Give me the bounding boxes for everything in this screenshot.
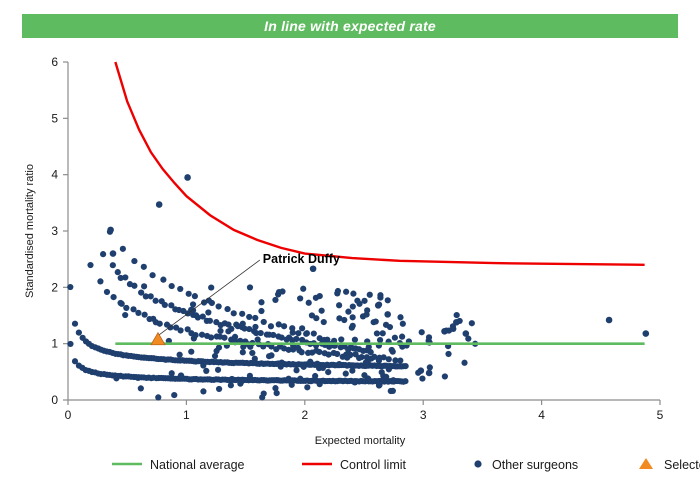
surgeon-point[interactable] [397, 357, 403, 363]
surgeon-point[interactable] [110, 262, 116, 268]
surgeon-point[interactable] [377, 337, 383, 343]
surgeon-point[interactable] [252, 356, 258, 362]
surgeon-point[interactable] [317, 381, 323, 387]
x-tick-label: 0 [65, 408, 72, 422]
surgeon-point[interactable] [312, 373, 318, 379]
surgeon-point[interactable] [215, 367, 221, 373]
surgeon-point[interactable] [276, 360, 282, 366]
surgeon-point[interactable] [67, 341, 73, 347]
surgeon-point[interactable] [276, 289, 282, 295]
surgeon-point[interactable] [397, 314, 403, 320]
surgeon-point[interactable] [118, 275, 124, 281]
surgeon-point[interactable] [293, 367, 299, 373]
legend-circle-swatch [474, 460, 481, 467]
surgeon-point[interactable] [352, 337, 358, 343]
surgeon-point[interactable] [295, 330, 301, 336]
surgeon-point[interactable] [67, 284, 73, 290]
surgeon-point[interactable] [221, 335, 227, 341]
selected-surgeon-marker[interactable] [151, 333, 165, 345]
funnel-chart-svg: 0123456 012345 Expected mortality Standa… [0, 40, 700, 500]
surgeon-point[interactable] [239, 311, 245, 317]
surgeon-point[interactable] [177, 286, 183, 292]
surgeon-point[interactable] [376, 381, 383, 388]
surgeon-point[interactable] [200, 388, 206, 394]
surgeon-point[interactable] [266, 353, 272, 359]
surgeon-point[interactable] [375, 302, 382, 309]
surgeon-point[interactable] [249, 350, 255, 356]
surgeon-point[interactable] [441, 328, 448, 335]
surgeon-point[interactable] [258, 330, 264, 336]
surgeon-point[interactable] [153, 298, 159, 304]
x-tick-label: 4 [538, 408, 545, 422]
surgeon-point[interactable] [442, 373, 448, 379]
surgeon-point[interactable] [293, 336, 299, 342]
surgeon-point[interactable] [321, 319, 327, 325]
surgeon-point[interactable] [316, 349, 322, 355]
x-axis-ticks: 012345 [65, 400, 664, 422]
surgeon-point[interactable] [297, 376, 303, 382]
surgeon-point[interactable] [203, 368, 209, 374]
surgeon-point[interactable] [113, 375, 119, 381]
funnel-plot-page: In line with expected rate 0123456 01234… [0, 0, 700, 500]
surgeon-point[interactable] [334, 351, 340, 357]
surgeon-point[interactable] [193, 312, 199, 318]
x-axis-title: Expected mortality [315, 435, 406, 447]
surgeon-point[interactable] [169, 370, 175, 376]
surgeon-point[interactable] [379, 369, 385, 375]
surgeon-point[interactable] [100, 251, 106, 257]
surgeon-point[interactable] [383, 322, 389, 328]
surgeon-point[interactable] [300, 286, 306, 292]
surgeon-point[interactable] [320, 365, 326, 371]
surgeon-point[interactable] [373, 318, 379, 324]
surgeon-point[interactable] [177, 327, 183, 333]
y-tick-label: 1 [51, 337, 58, 351]
surgeon-point[interactable] [162, 302, 168, 308]
surgeon-point[interactable] [184, 174, 191, 181]
surgeon-point[interactable] [207, 318, 213, 324]
surgeon-point[interactable] [246, 314, 252, 320]
surgeon-point[interactable] [232, 334, 238, 340]
surgeon-point[interactable] [138, 385, 144, 391]
surgeon-point[interactable] [142, 312, 148, 318]
surgeon-point[interactable] [400, 321, 406, 327]
surgeon-point[interactable] [237, 381, 243, 387]
surgeon-point[interactable] [376, 355, 382, 361]
surgeon-point[interactable] [309, 312, 315, 318]
surgeon-point[interactable] [289, 382, 295, 388]
y-tick-label: 0 [51, 393, 58, 407]
legend-item-label: National average [150, 458, 245, 472]
surgeon-point[interactable] [290, 330, 296, 336]
surgeon-point[interactable] [389, 347, 395, 353]
status-banner-label: In line with expected rate [264, 18, 436, 34]
surgeon-point[interactable] [258, 308, 264, 314]
legend-item-label: Control limit [340, 458, 407, 472]
surgeon-point[interactable] [258, 299, 264, 305]
surgeon-point[interactable] [123, 305, 129, 311]
surgeon-point[interactable] [317, 293, 323, 299]
surgeon-point[interactable] [120, 246, 126, 252]
surgeon-point[interactable] [131, 283, 137, 289]
x-tick-label: 1 [183, 408, 190, 422]
surgeon-point[interactable] [141, 355, 147, 361]
surgeon-point[interactable] [252, 315, 258, 321]
surgeon-point[interactable] [308, 378, 314, 384]
surgeon-point[interactable] [190, 301, 196, 307]
surgeon-point[interactable] [87, 262, 93, 268]
surgeon-point[interactable] [268, 323, 274, 329]
surgeon-point[interactable] [110, 294, 116, 300]
surgeon-point[interactable] [255, 336, 261, 342]
surgeon-point[interactable] [301, 364, 307, 370]
surgeon-point[interactable] [217, 328, 223, 334]
surgeon-point[interactable] [336, 361, 342, 367]
surgeon-point[interactable] [270, 332, 276, 338]
surgeon-point[interactable] [281, 323, 287, 329]
surgeon-point[interactable] [216, 386, 222, 392]
surgeon-point[interactable] [426, 370, 433, 377]
surgeon-point[interactable] [156, 201, 163, 208]
surgeon-point[interactable] [363, 311, 369, 317]
surgeon-point[interactable] [97, 278, 103, 284]
surgeon-point[interactable] [107, 227, 114, 234]
surgeon-point[interactable] [149, 272, 155, 278]
surgeon-point[interactable] [276, 321, 282, 327]
surgeon-point[interactable] [310, 265, 317, 272]
surgeon-point[interactable] [325, 369, 331, 375]
surgeon-point[interactable] [177, 352, 183, 358]
surgeon-point[interactable] [169, 283, 175, 289]
surgeon-point[interactable] [216, 303, 222, 309]
annotation-label: Patrick Duffy [263, 252, 340, 266]
surgeon-point[interactable] [233, 322, 239, 328]
surgeon-point[interactable] [160, 277, 166, 283]
surgeon-point[interactable] [642, 330, 649, 337]
surgeon-point[interactable] [304, 384, 310, 390]
y-tick-label: 5 [51, 111, 58, 125]
surgeon-point[interactable] [363, 359, 369, 365]
surgeon-point[interactable] [350, 291, 356, 297]
surgeon-point[interactable] [461, 360, 467, 366]
surgeon-point[interactable] [115, 269, 121, 275]
surgeon-point[interactable] [390, 377, 396, 383]
surgeon-point[interactable] [454, 312, 460, 318]
surgeon-point[interactable] [319, 308, 325, 314]
surgeon-point[interactable] [157, 321, 163, 327]
surgeon-point[interactable] [350, 303, 356, 309]
surgeon-point[interactable] [205, 309, 211, 315]
surgeon-point[interactable] [374, 330, 380, 336]
surgeon-point[interactable] [118, 300, 124, 306]
x-tick-label: 3 [420, 408, 427, 422]
status-banner: In line with expected rate [22, 14, 678, 38]
surgeon-point[interactable] [135, 310, 141, 316]
surgeon-point[interactable] [418, 367, 425, 374]
surgeon-point[interactable] [343, 289, 349, 295]
surgeon-point[interactable] [231, 310, 237, 316]
surgeon-point[interactable] [150, 316, 156, 322]
surgeon-point[interactable] [72, 321, 78, 327]
legend-item-label: Other surgeons [492, 458, 578, 472]
surgeon-point[interactable] [307, 359, 313, 365]
surgeon-point[interactable] [76, 330, 82, 336]
y-tick-label: 3 [51, 224, 58, 238]
surgeon-point[interactable] [261, 390, 267, 396]
chart-legend: National averageControl limitOther surge… [112, 458, 700, 472]
surgeon-point[interactable] [380, 330, 386, 336]
surgeon-point[interactable] [225, 328, 231, 334]
surgeon-point[interactable] [135, 375, 141, 381]
surgeon-point[interactable] [141, 283, 147, 289]
surgeon-point[interactable] [419, 329, 425, 335]
surgeon-point[interactable] [606, 317, 613, 324]
surgeon-point[interactable] [344, 355, 350, 361]
surgeon-point[interactable] [208, 284, 214, 290]
y-tick-label: 4 [51, 168, 58, 182]
x-tick-label: 5 [657, 408, 664, 422]
other-surgeons-scatter[interactable] [67, 174, 649, 400]
surgeon-point[interactable] [297, 295, 303, 301]
surgeon-point[interactable] [141, 264, 147, 270]
surgeon-point[interactable] [240, 349, 246, 355]
surgeon-point[interactable] [252, 324, 258, 330]
surgeon-point[interactable] [178, 372, 184, 378]
surgeon-point[interactable] [192, 293, 198, 299]
surgeon-point[interactable] [392, 335, 398, 341]
surgeon-point[interactable] [228, 382, 234, 388]
legend-item-label: Selected surgeon [664, 458, 700, 472]
control-limit-line [115, 62, 644, 265]
surgeon-point[interactable] [349, 325, 355, 331]
surgeon-point[interactable] [306, 300, 312, 306]
surgeon-point[interactable] [200, 362, 206, 368]
surgeon-point[interactable] [341, 317, 347, 323]
surgeon-point[interactable] [299, 325, 305, 331]
surgeon-point[interactable] [386, 366, 392, 372]
surgeon-point[interactable] [229, 376, 235, 382]
y-axis-title: Standardised mortality ratio [24, 164, 36, 298]
surgeon-point[interactable] [453, 319, 460, 326]
surgeon-point[interactable] [365, 375, 371, 381]
surgeon-point[interactable] [356, 301, 362, 307]
surgeon-point[interactable] [390, 388, 396, 394]
surgeon-point[interactable] [224, 306, 230, 312]
surgeon-point[interactable] [155, 394, 161, 400]
surgeon-point[interactable] [399, 334, 405, 340]
surgeon-point[interactable] [304, 330, 310, 336]
surgeon-point[interactable] [345, 309, 351, 315]
surgeon-point[interactable] [122, 312, 128, 318]
surgeon-point[interactable] [463, 330, 470, 337]
surgeon-point[interactable] [131, 258, 137, 264]
surgeon-point[interactable] [286, 376, 292, 382]
surgeon-point[interactable] [311, 330, 317, 336]
surgeon-point[interactable] [104, 289, 110, 295]
surgeon-point[interactable] [469, 320, 475, 326]
surgeon-point[interactable] [191, 335, 197, 341]
surgeon-point[interactable] [261, 319, 267, 325]
surgeon-point[interactable] [386, 356, 392, 362]
surgeon-point[interactable] [247, 284, 253, 290]
legend-item[interactable]: Other surgeons [474, 458, 578, 472]
surgeon-point[interactable] [321, 337, 327, 343]
surgeon-point[interactable] [367, 292, 373, 298]
surgeon-point[interactable] [272, 297, 278, 303]
legend-triangle-swatch [639, 458, 653, 469]
surgeon-point[interactable] [384, 311, 391, 318]
y-tick-label: 6 [51, 55, 58, 69]
surgeon-point[interactable] [402, 378, 408, 384]
surgeon-point[interactable] [208, 334, 214, 340]
surgeon-point[interactable] [427, 364, 433, 370]
surgeon-point[interactable] [336, 302, 342, 308]
surgeon-point[interactable] [148, 293, 154, 299]
surgeon-point[interactable] [188, 349, 194, 355]
surgeon-point[interactable] [383, 374, 389, 380]
surgeon-point[interactable] [334, 290, 340, 296]
surgeon-point[interactable] [110, 250, 117, 257]
surgeon-point[interactable] [385, 297, 391, 303]
surgeon-point[interactable] [377, 294, 383, 300]
surgeon-point[interactable] [352, 379, 358, 385]
y-tick-label: 2 [51, 280, 58, 294]
chart-container: 0123456 012345 Expected mortality Standa… [0, 40, 700, 500]
surgeon-point[interactable] [338, 336, 344, 342]
surgeon-point[interactable] [240, 321, 246, 327]
surgeon-point[interactable] [247, 373, 253, 379]
y-axis-ticks: 0123456 [51, 55, 68, 407]
surgeon-point[interactable] [350, 314, 356, 320]
surgeon-point[interactable] [343, 371, 349, 377]
x-tick-label: 2 [301, 408, 308, 422]
legend-item[interactable]: National average [112, 458, 245, 472]
surgeon-point[interactable] [403, 363, 409, 369]
surgeon-point[interactable] [419, 375, 425, 381]
surgeon-point[interactable] [272, 385, 278, 391]
surgeon-point[interactable] [213, 348, 219, 354]
surgeon-point[interactable] [171, 392, 177, 398]
legend-item[interactable]: Selected surgeon [639, 458, 700, 472]
surgeon-point[interactable] [186, 291, 192, 297]
legend-item[interactable]: Control limit [302, 458, 407, 472]
surgeon-point[interactable] [350, 345, 356, 351]
surgeon-point[interactable] [445, 351, 451, 357]
surgeon-point[interactable] [349, 368, 355, 374]
